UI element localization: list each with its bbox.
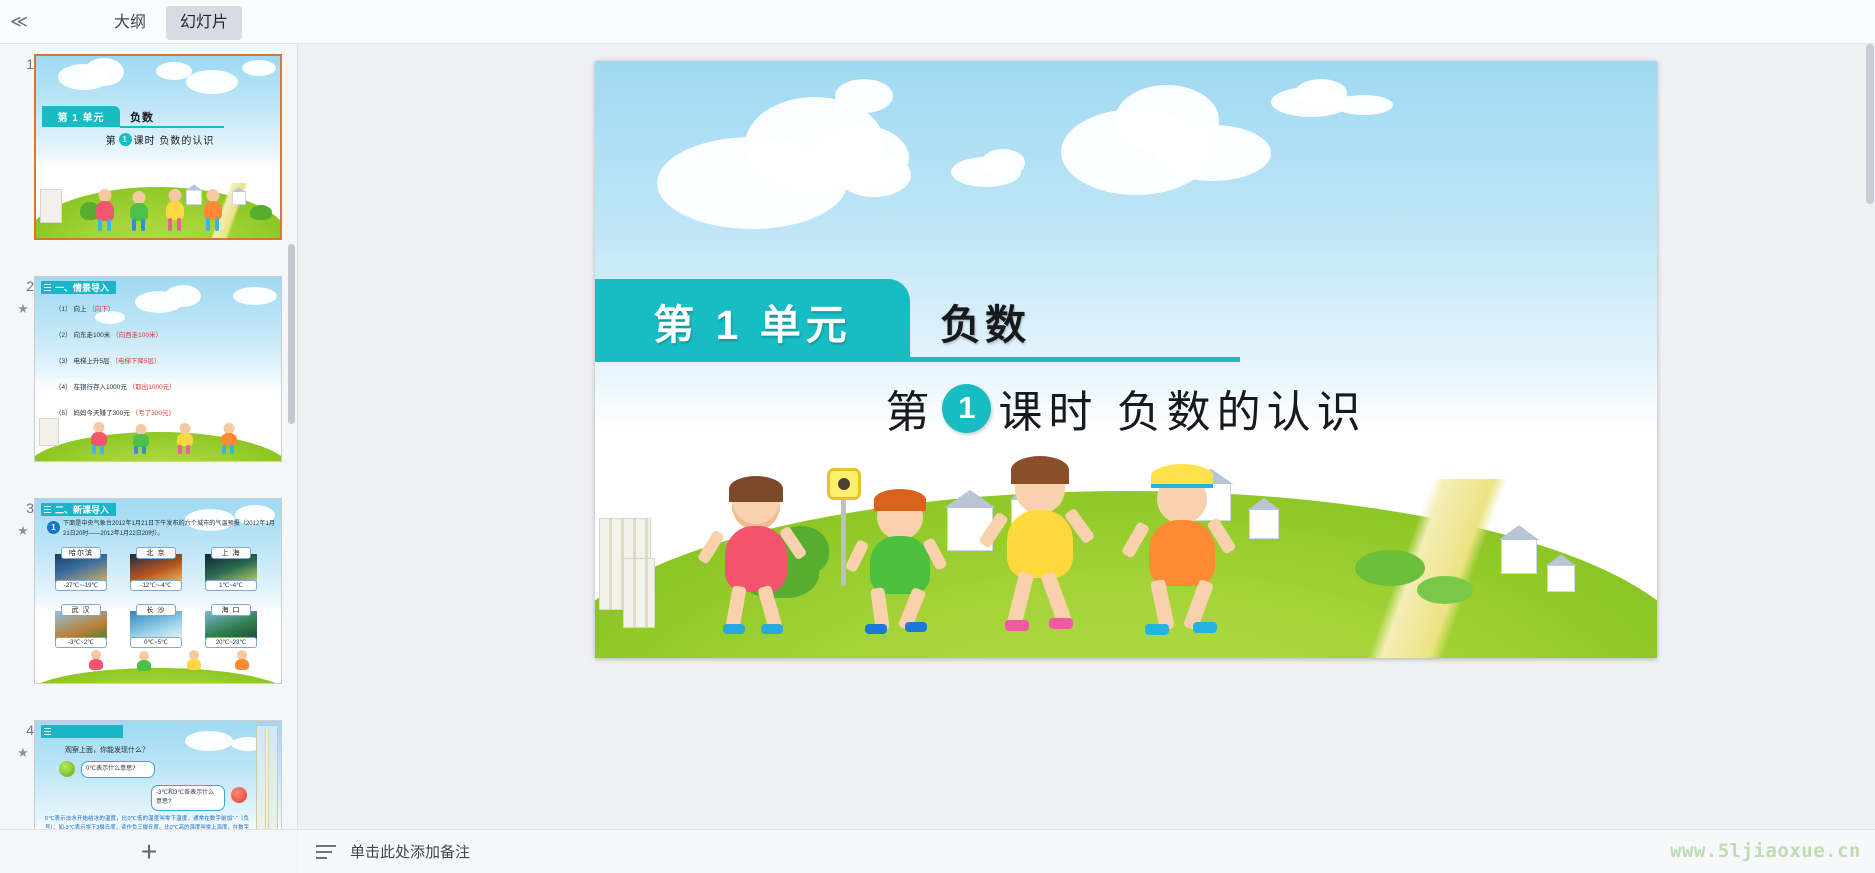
kid-leg bbox=[206, 218, 210, 231]
city-card: 哈尔滨 -27℃~-19℃ bbox=[55, 547, 107, 591]
slide-number: 4 bbox=[14, 722, 34, 738]
lesson-suffix: 课时 负数的认识 bbox=[998, 376, 1366, 440]
kid-body bbox=[1007, 510, 1073, 578]
kid-figure-yellow bbox=[995, 464, 1085, 634]
city-name: 长 沙 bbox=[136, 604, 176, 616]
lesson-number-badge: 1 bbox=[942, 384, 991, 433]
lesson-prefix: 第 bbox=[885, 376, 935, 440]
mascot-green-icon bbox=[59, 761, 75, 777]
thumbnail-row-4[interactable]: 4 ★ 观察上面，你能发现什么？ 0℃表示什么意思? -3℃和3℃各表示什么意思… bbox=[0, 720, 297, 829]
mini-lesson-prefix: 第 bbox=[106, 132, 117, 147]
kid-shoe bbox=[865, 624, 887, 634]
thermometer-tube bbox=[265, 729, 269, 829]
slide-editing-stage[interactable]: 第 1 单元 负数 第 1 课时 负数的认识 bbox=[298, 44, 1875, 829]
kid-body bbox=[89, 659, 103, 670]
city-temp: 1℃~4℃ bbox=[205, 580, 257, 591]
kid-shoe bbox=[1005, 620, 1029, 631]
kid-leg bbox=[1007, 571, 1035, 627]
city-temp: -3℃~2℃ bbox=[55, 637, 107, 648]
mini-paragraph: 下面是中央气象台2012年1月21日下午发布的六个城市的气温预报（2012年1月… bbox=[63, 520, 275, 540]
notes-bar[interactable]: 单击此处添加备注 www.5ljiaoxue.cn bbox=[298, 829, 1875, 873]
kid-cap-icon bbox=[1151, 464, 1213, 488]
mini-item-text: 向上 bbox=[73, 306, 86, 313]
kid-shoe bbox=[723, 624, 745, 634]
kid-leg bbox=[98, 219, 102, 231]
city-temp: -27℃~-19℃ bbox=[55, 580, 107, 591]
city-card: 海 口 20℃~23℃ bbox=[205, 604, 257, 648]
slide-number: 3 bbox=[14, 500, 34, 516]
mini-lesson-line: 第 1 课时 负数的认识 bbox=[36, 132, 282, 147]
mini-item-text: 向东走100米 bbox=[73, 332, 110, 339]
kid-figure bbox=[128, 191, 150, 231]
city-name: 海 口 bbox=[211, 604, 251, 616]
animation-star-icon: ★ bbox=[12, 302, 34, 315]
cloud-icon bbox=[185, 731, 233, 751]
kid-leg bbox=[222, 445, 226, 454]
slide-thumbnail-2[interactable]: 一、情景导入 （1） 向上 （向下） （2） 向东走100米 （向西走100米）… bbox=[34, 276, 282, 462]
kid-leg bbox=[142, 446, 146, 454]
slide-thumbnail-3[interactable]: 二、新课导入 1 下面是中央气象台2012年1月21日下午发布的六个城市的气温预… bbox=[34, 498, 282, 684]
city-temp: 0℃~5℃ bbox=[130, 637, 182, 648]
kid-leg bbox=[141, 219, 145, 231]
kid-hair bbox=[729, 476, 783, 502]
kid-leg bbox=[132, 219, 136, 231]
kid-figure bbox=[135, 651, 153, 676]
speech-bubble: -3℃和3℃各表示什么意思? bbox=[151, 785, 225, 811]
add-slide-icon[interactable]: + bbox=[141, 838, 157, 866]
mini-lesson-suffix: 课时 负数的认识 bbox=[134, 132, 215, 147]
traffic-light-icon bbox=[827, 468, 861, 500]
kid-leg bbox=[100, 445, 104, 454]
cloud-icon bbox=[84, 58, 124, 86]
mini-item-index: （4） bbox=[55, 384, 72, 391]
mini-item-index: （1） bbox=[55, 306, 72, 313]
house-icon bbox=[1501, 538, 1537, 574]
slide-thumbnail-panel[interactable]: 1 第 1 单元 负数 第 1 课时 负数的认识 bbox=[0, 44, 298, 829]
city-card: 武 汉 -3℃~2℃ bbox=[55, 604, 107, 648]
mini-item-answer: （取出1000元） bbox=[129, 384, 176, 391]
current-slide-canvas[interactable]: 第 1 单元 负数 第 1 课时 负数的认识 bbox=[595, 61, 1657, 658]
kid-figure bbox=[94, 189, 116, 231]
speech-bubble: 0℃表示什么意思? bbox=[81, 761, 155, 778]
kid-body bbox=[204, 201, 222, 220]
kid-leg bbox=[186, 445, 190, 454]
kid-body bbox=[221, 433, 237, 446]
mini-paragraph: 0℃表示淡水开始结冰的温度，比0℃低的温度叫零下温度，通常在数字前加“-”（负号… bbox=[45, 815, 249, 829]
tab-slides[interactable]: 幻灯片 bbox=[166, 6, 242, 40]
kid-body bbox=[137, 660, 151, 671]
mini-item-text: 在银行存入1000元 bbox=[73, 384, 126, 391]
fence-icon bbox=[39, 418, 59, 446]
notes-placeholder[interactable]: 单击此处添加备注 bbox=[350, 841, 470, 862]
slide-thumbnail-1[interactable]: 第 1 单元 负数 第 1 课时 负数的认识 bbox=[34, 54, 282, 240]
mini-item: （4） 在银行存入1000元 （取出1000元） bbox=[55, 381, 176, 391]
kid-figure bbox=[219, 423, 239, 454]
mini-item-index: （5） bbox=[55, 410, 72, 417]
kid-figure bbox=[164, 189, 186, 231]
thumbnail-row-2[interactable]: 2 ★ 一、情景导入 （1） 向上 （向下） （2） 向东走100米 （向西走1… bbox=[0, 276, 297, 476]
mini-item-text: 电梯上升5层 bbox=[73, 358, 109, 365]
kid-body bbox=[166, 201, 184, 220]
fence-icon bbox=[623, 558, 655, 628]
cloud-icon bbox=[165, 285, 201, 307]
cloud-icon bbox=[981, 149, 1025, 177]
fence-icon bbox=[40, 189, 62, 223]
animation-star-icon: ★ bbox=[12, 524, 34, 537]
view-tabs: 大纲 幻灯片 bbox=[100, 6, 242, 40]
kid-leg bbox=[215, 218, 219, 231]
cloud-icon bbox=[242, 60, 276, 76]
animation-star-icon: ★ bbox=[12, 746, 34, 759]
thumbnail-canvas: 一、情景导入 （1） 向上 （向下） （2） 向东走100米 （向西走100米）… bbox=[35, 277, 281, 461]
mini-unit-banner: 第 1 单元 bbox=[42, 106, 120, 127]
mascot-red-icon bbox=[231, 787, 247, 803]
thumbnail-row-3[interactable]: 3 ★ 二、新课导入 1 下面是中央气象台2012年1月21日下午发布的六个城市… bbox=[0, 498, 297, 698]
title-underline bbox=[910, 357, 1240, 362]
kid-figure-pink bbox=[713, 482, 799, 634]
mini-question: 观察上面，你能发现什么？ bbox=[65, 745, 149, 755]
slide-number: 2 bbox=[14, 278, 34, 294]
traffic-light-pole bbox=[841, 496, 846, 586]
mini-item: （1） 向上 （向下） bbox=[55, 303, 114, 313]
kid-shoe bbox=[1193, 622, 1217, 633]
city-card: 上 海 1℃~4℃ bbox=[205, 547, 257, 591]
kid-shoe bbox=[761, 624, 783, 634]
kid-body bbox=[725, 526, 787, 592]
cloud-icon bbox=[1155, 125, 1271, 181]
tab-outline[interactable]: 大纲 bbox=[100, 6, 160, 40]
mini-item-answer: （向下） bbox=[88, 306, 114, 313]
house-icon bbox=[186, 189, 202, 205]
kid-hair bbox=[874, 489, 926, 511]
thumbnail-canvas: 观察上面，你能发现什么？ 0℃表示什么意思? -3℃和3℃各表示什么意思? 0℃… bbox=[35, 721, 281, 829]
topic-label: 负数 bbox=[940, 291, 1030, 351]
kid-hair bbox=[1011, 456, 1069, 484]
kid-body bbox=[235, 659, 249, 670]
slide-number: 1 bbox=[14, 56, 34, 72]
house-icon bbox=[232, 191, 246, 205]
mini-item-answer: （电梯下降5层） bbox=[111, 358, 160, 365]
panel-scrollbar[interactable] bbox=[288, 244, 295, 424]
thermometer-icon bbox=[256, 725, 278, 829]
kid-figure-green bbox=[857, 494, 943, 634]
mini-section-title: 一、情景导入 bbox=[41, 281, 116, 294]
mini-section-title: 二、新课导入 bbox=[41, 503, 116, 516]
city-name: 北 京 bbox=[136, 547, 176, 559]
kid-body bbox=[91, 432, 107, 446]
lesson-line: 第 1 课时 负数的认识 bbox=[595, 376, 1657, 440]
kid-shoe bbox=[1049, 618, 1073, 629]
bush-icon bbox=[250, 205, 272, 220]
kid-figure bbox=[131, 424, 151, 454]
unit-banner: 第 1 单元 bbox=[595, 279, 910, 362]
stage-scrollbar[interactable] bbox=[1866, 44, 1874, 204]
mini-step-badge: 1 bbox=[47, 521, 60, 534]
kid-shoe bbox=[1145, 624, 1169, 635]
notes-line bbox=[316, 857, 327, 859]
cloud-icon bbox=[835, 79, 893, 113]
kid-figure bbox=[89, 422, 109, 454]
kid-figure bbox=[233, 650, 251, 676]
cloud-icon bbox=[233, 287, 277, 305]
mini-item: （3） 电梯上升5层 （电梯下降5层） bbox=[55, 355, 161, 365]
traffic-light-lamp bbox=[838, 478, 850, 490]
kid-leg bbox=[177, 218, 181, 231]
kid-leg bbox=[107, 219, 111, 231]
mini-section-title bbox=[41, 725, 123, 738]
city-name: 武 汉 bbox=[61, 604, 101, 616]
kid-figure bbox=[175, 423, 195, 454]
kid-figure bbox=[185, 650, 203, 676]
mini-unit-topic: 负数 bbox=[130, 109, 154, 125]
city-card: 长 沙 0℃~5℃ bbox=[130, 604, 182, 648]
notes-line bbox=[316, 851, 332, 853]
kid-figure bbox=[87, 650, 105, 676]
mini-rule bbox=[120, 126, 224, 128]
kid-leg bbox=[168, 218, 172, 231]
kid-shoe bbox=[905, 622, 927, 632]
kid-body bbox=[133, 434, 149, 447]
city-name: 哈尔滨 bbox=[61, 547, 101, 559]
city-name: 上 海 bbox=[211, 547, 251, 559]
house-icon bbox=[1249, 509, 1279, 539]
kid-body bbox=[1149, 520, 1215, 586]
kid-body bbox=[870, 536, 930, 594]
thumbnail-canvas: 二、新课导入 1 下面是中央气象台2012年1月21日下午发布的六个城市的气温预… bbox=[35, 499, 281, 683]
city-card: 北 京 -12℃~-4℃ bbox=[130, 547, 182, 591]
kid-figure bbox=[202, 189, 224, 231]
notes-add-icon bbox=[316, 843, 338, 861]
thumbnail-canvas: 第 1 单元 负数 第 1 课时 负数的认识 bbox=[36, 56, 280, 238]
collapse-panel-icon[interactable]: ≪ bbox=[6, 9, 32, 35]
mini-item-index: （2） bbox=[55, 332, 72, 339]
house-icon bbox=[1547, 564, 1575, 592]
kid-figure-orange bbox=[1137, 470, 1227, 634]
mini-item-index: （3） bbox=[55, 358, 72, 365]
kid-leg bbox=[134, 446, 138, 454]
mini-item-answer: （亏了300元） bbox=[132, 410, 175, 417]
city-temp: 20℃~23℃ bbox=[205, 637, 257, 648]
top-toolbar: ≪ 大纲 幻灯片 bbox=[0, 0, 1875, 44]
site-watermark: www.5ljiaoxue.cn bbox=[1670, 840, 1861, 862]
unit-label: 第 1 单元 bbox=[653, 291, 852, 351]
kid-leg bbox=[178, 445, 182, 454]
mini-item-text: 妈妈今天赚了300元 bbox=[73, 410, 129, 417]
cloud-icon bbox=[837, 153, 911, 197]
cloud-icon bbox=[186, 70, 238, 94]
mini-item-answer: （向西走100米） bbox=[112, 332, 162, 339]
mini-item: （5） 妈妈今天赚了300元 （亏了300元） bbox=[55, 407, 175, 417]
kid-leg bbox=[92, 445, 96, 454]
kid-body bbox=[177, 433, 193, 446]
mini-lesson-badge: 1 bbox=[119, 133, 132, 146]
slide-thumbnail-4[interactable]: 观察上面，你能发现什么？ 0℃表示什么意思? -3℃和3℃各表示什么意思? 0℃… bbox=[34, 720, 282, 829]
city-temp: -12℃~-4℃ bbox=[130, 580, 182, 591]
kid-body bbox=[96, 201, 114, 221]
cloud-icon bbox=[1335, 95, 1393, 115]
mini-item: （2） 向东走100米 （向西走100米） bbox=[55, 329, 162, 339]
add-slide-bar[interactable]: + bbox=[0, 829, 298, 873]
kid-body bbox=[187, 659, 201, 670]
thumbnail-row-1[interactable]: 1 第 1 单元 负数 第 1 课时 负数的认识 bbox=[0, 54, 297, 254]
kid-leg bbox=[230, 445, 234, 454]
notes-line bbox=[316, 845, 336, 847]
